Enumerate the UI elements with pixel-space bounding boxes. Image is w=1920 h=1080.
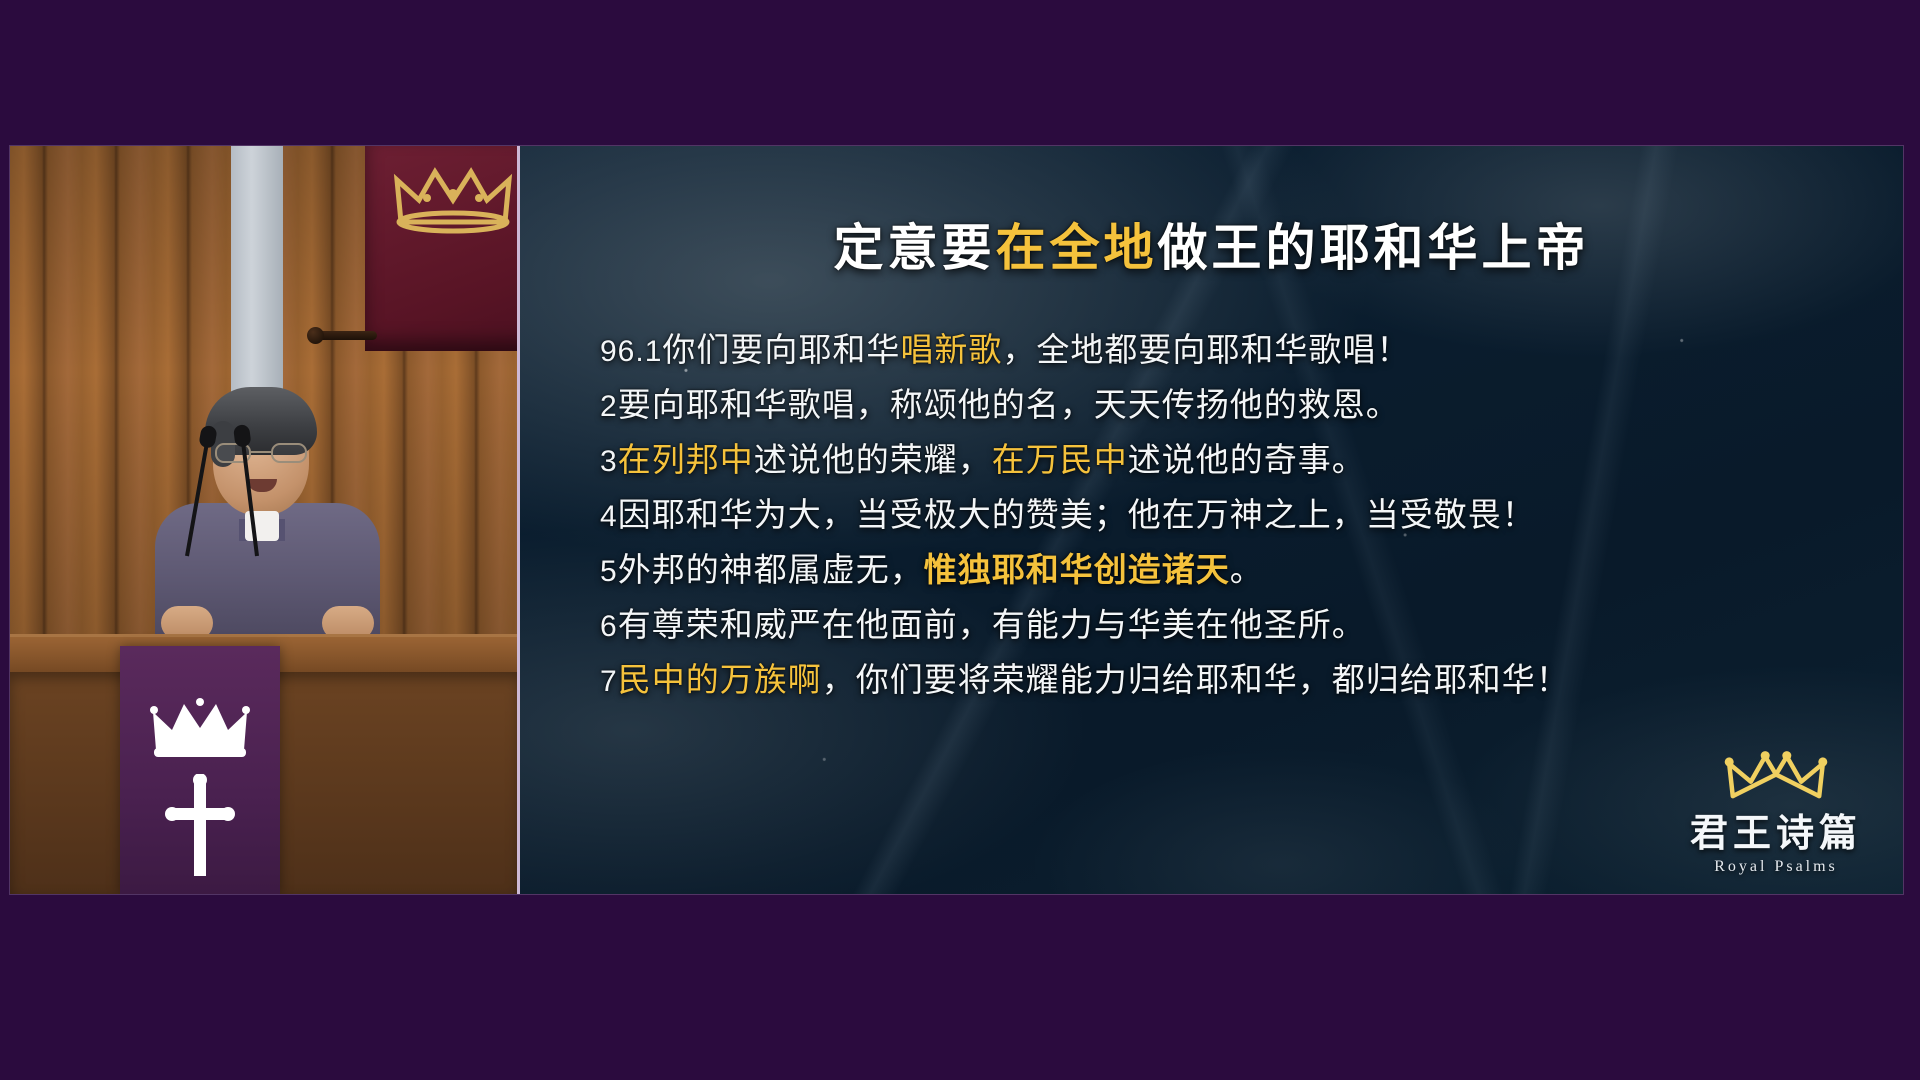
verse-text-highlight: 在万民中	[992, 443, 1128, 479]
verse-text: 述说他的奇事。	[1128, 443, 1366, 479]
content-band: 定意要在全地做王的耶和华上帝 96.1你们要向耶和华唱新歌，全地都要向耶和华歌唱…	[10, 146, 1903, 894]
verse-text-highlight: 唱新歌	[900, 333, 1002, 369]
verse-line: 5外邦的神都属虚无，惟独耶和华创造诸天。	[600, 544, 1890, 599]
presentation-slide: 定意要在全地做王的耶和华上帝 96.1你们要向耶和华唱新歌，全地都要向耶和华歌唱…	[520, 146, 1903, 894]
verse-number: 5	[600, 555, 618, 588]
slide-title-part1: 定意要	[834, 220, 996, 276]
pulpit	[10, 634, 520, 894]
verse-text: 有尊荣和威严在他面前，有能力与华美在他圣所。	[618, 608, 1366, 644]
verse-text: 外邦的神都属虚无，	[618, 553, 924, 589]
verse-text: 你们要向耶和华	[662, 333, 900, 369]
parament-crown-icon	[148, 698, 252, 760]
verse-text-highlight: 惟独耶和华创造诸天	[924, 553, 1230, 589]
crown-icon	[1722, 750, 1830, 808]
slide-title: 定意要在全地做王的耶和华上帝	[520, 208, 1903, 280]
preacher-glasses	[215, 443, 307, 463]
live-camera-feed	[10, 146, 520, 894]
verse-text-highlight: 民中的万族啊	[618, 663, 822, 699]
verse-number: 3	[600, 445, 618, 478]
verse-number: 96.1	[600, 335, 662, 368]
verse-line: 4因耶和华为大，当受极大的赞美；他在万神之上，当受敬畏！	[600, 489, 1890, 544]
logo-crown-wrap	[1683, 750, 1869, 812]
banner-rod	[315, 331, 377, 340]
verse-number: 6	[600, 610, 618, 643]
royal-psalms-logo: 君王诗篇 Royal Psalms	[1683, 750, 1869, 876]
parament-cross-icon	[164, 774, 236, 880]
slide-title-part2: 做王的耶和华上帝	[1158, 220, 1590, 276]
logo-english-text: Royal Psalms	[1683, 858, 1869, 876]
verse-text: 因耶和华为大，当受极大的赞美；他在万神之上，当受敬畏！	[618, 498, 1536, 534]
verse-number: 7	[600, 665, 618, 698]
banner-crown-icon	[393, 164, 513, 234]
verse-line: 3在列邦中述说他的荣耀，在万民中述说他的奇事。	[600, 434, 1890, 489]
logo-chinese-text: 君王诗篇	[1683, 812, 1869, 856]
verse-text: 。	[1230, 553, 1264, 589]
wall-banner	[365, 146, 520, 351]
pulpit-parament	[120, 646, 280, 894]
preacher	[155, 381, 380, 641]
verse-text: 述说他的荣耀，	[754, 443, 992, 479]
verse-line: 2要向耶和华歌唱，称颂他的名，天天传扬他的救恩。	[600, 379, 1890, 434]
verse-text: ，你们要将荣耀能力归给耶和华，都归给耶和华！	[822, 663, 1570, 699]
verse-block: 96.1你们要向耶和华唱新歌，全地都要向耶和华歌唱！2要向耶和华歌唱，称颂他的名…	[600, 324, 1890, 709]
verse-line: 7民中的万族啊，你们要将荣耀能力归给耶和华，都归给耶和华！	[600, 654, 1890, 709]
slide-stage: 定意要在全地做王的耶和华上帝 96.1你们要向耶和华唱新歌，全地都要向耶和华歌唱…	[0, 0, 1920, 1080]
slide-title-highlight: 在全地	[996, 220, 1158, 276]
verse-line: 6有尊荣和威严在他面前，有能力与华美在他圣所。	[600, 599, 1890, 654]
verse-text: 要向耶和华歌唱，称颂他的名，天天传扬他的救恩。	[618, 388, 1400, 424]
verse-number: 2	[600, 390, 618, 423]
verse-number: 4	[600, 500, 618, 533]
verse-text: ，全地都要向耶和华歌唱！	[1002, 333, 1410, 369]
verse-text-highlight: 在列邦中	[618, 443, 754, 479]
verse-line: 96.1你们要向耶和华唱新歌，全地都要向耶和华歌唱！	[600, 324, 1890, 379]
